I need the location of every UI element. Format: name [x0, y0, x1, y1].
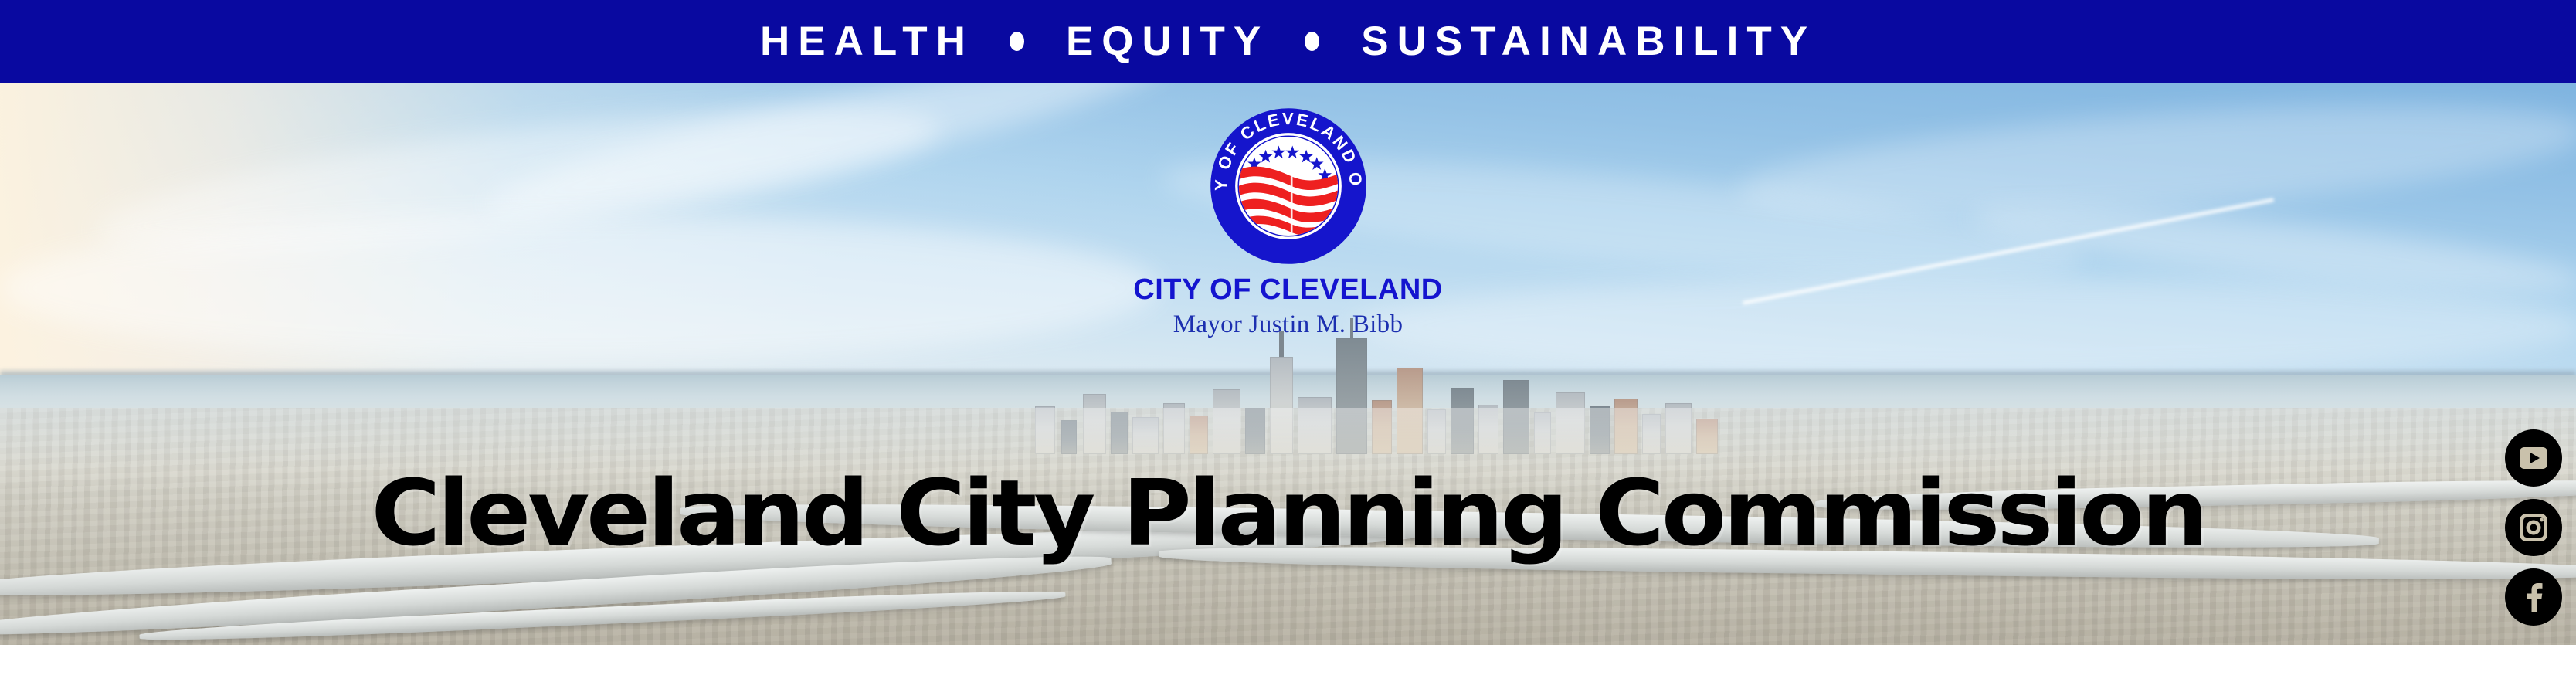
instagram-button[interactable] — [2505, 499, 2562, 556]
instagram-icon — [2517, 511, 2551, 545]
tagline-inner: HEALTH EQUITY SUSTAINABILITY — [760, 21, 1816, 62]
youtube-icon — [2517, 441, 2551, 475]
tagline-separator-dot-1 — [1010, 32, 1024, 51]
facebook-icon — [2517, 580, 2551, 614]
city-of-cleveland-seal-icon: CITY OF CLEVELAND OHIO — [1207, 105, 1369, 267]
tagline-separator-dot-2 — [1305, 32, 1319, 51]
hero-photo: CITY OF CLEVELAND OHIO — [0, 83, 2576, 645]
mayor-name: Mayor Justin M. Bibb — [1088, 310, 1489, 339]
downtown-skyline — [1035, 338, 1730, 454]
tagline-bar: HEALTH EQUITY SUSTAINABILITY — [0, 0, 2576, 83]
cloud-wisp — [0, 215, 1159, 361]
tagline-word-health: HEALTH — [760, 21, 974, 62]
facebook-button[interactable] — [2505, 568, 2562, 626]
youtube-button[interactable] — [2505, 429, 2562, 487]
tagline-word-equity: EQUITY — [1066, 21, 1269, 62]
city-branding: CITY OF CLEVELAND OHIO — [1088, 105, 1489, 339]
social-links-rail — [2500, 429, 2567, 626]
bottom-white-strip — [0, 645, 2576, 682]
tagline-word-sustainability: SUSTAINABILITY — [1361, 21, 1816, 62]
city-wordmark: CITY OF CLEVELAND — [1088, 275, 1489, 306]
page-root: HEALTH EQUITY SUSTAINABILITY — [0, 0, 2576, 682]
